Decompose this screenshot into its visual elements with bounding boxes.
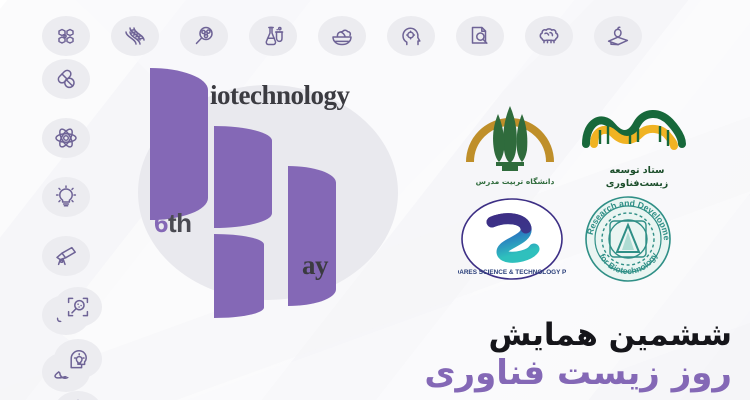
tarbiat-modares-university-logo: دانشگاه تربیت مدرس <box>460 100 570 186</box>
svg-text:MODARES SCIENCE & TECHNOLOGY P: MODARES SCIENCE & TECHNOLOGY PARK <box>458 269 566 276</box>
magnifier-focus-icon <box>54 287 102 327</box>
molecule-hexagon-icon <box>42 16 90 56</box>
edition-suffix: th <box>168 208 192 238</box>
salad-bowl-icon <box>318 16 366 56</box>
logo-text-biotechnology: iotechnology <box>210 80 350 111</box>
atom-icon <box>42 118 90 158</box>
modares-science-technology-park-logo: MODARES SCIENCE & TECHNOLOGY PARK <box>458 196 566 287</box>
tarbiat-modares-caption: دانشگاه تربیت مدرس <box>460 177 570 186</box>
headline-line-2: روز زیست فناوری <box>424 353 732 394</box>
dna-helix-icon <box>111 16 159 56</box>
pills-capsule-icon <box>42 59 90 99</box>
logo-text-day: ay <box>302 250 328 281</box>
bdh-caption-line1: ستاد توسعه <box>578 165 696 178</box>
head-lightbulb-icon <box>54 339 102 379</box>
headline-block: ششمین همایش روز زیست فناوری <box>424 317 732 394</box>
headline-line-1: ششمین همایش <box>424 317 732 354</box>
apple-book-icon <box>594 16 642 56</box>
conference-poster: iotechnology ay 6th دانشگاه تربیت مدرس <box>0 0 750 400</box>
logo-text-edition: 6th <box>154 208 192 239</box>
logo-shape-b-lower-bowl <box>214 126 272 228</box>
lab-flask-icon <box>249 16 297 56</box>
logo-shape-b-upper <box>150 68 208 220</box>
sponsor-logo-cluster: دانشگاه تربیت مدرس ستاد توسعه زیست‌فناور… <box>452 100 702 285</box>
head-gear-icon <box>387 16 435 56</box>
edition-number: 6 <box>154 208 168 238</box>
document-magnifier-icon <box>456 16 504 56</box>
brain-icon <box>525 16 573 56</box>
logo-shape-d-stem <box>288 166 336 306</box>
logo-shape-d-bowl <box>214 234 264 318</box>
lightbulb-idea-icon <box>42 177 90 217</box>
magnifier-molecule-icon <box>180 16 228 56</box>
telescope-icon <box>42 236 90 276</box>
bdh-caption-line2: زیست‌فناوری <box>578 178 696 191</box>
research-development-center-biotechnology-logo: Research and Development Center for Biot… <box>576 194 680 289</box>
biotechnology-day-logo-mark: iotechnology ay 6th <box>150 68 370 283</box>
biotechnology-development-headquarters-logo: ستاد توسعه زیست‌فناوری <box>578 100 696 191</box>
